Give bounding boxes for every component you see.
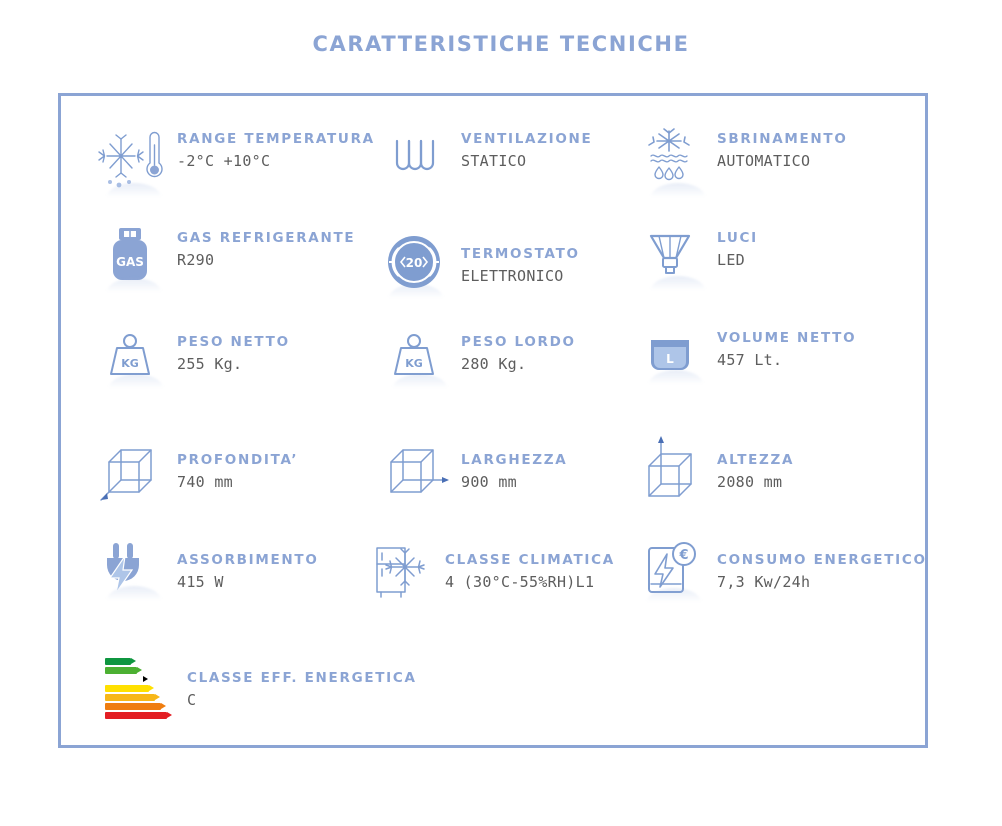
weight-kg-icon: KG bbox=[99, 328, 171, 394]
spec-value: ELETTRONICO bbox=[461, 264, 580, 288]
energy-bar-g bbox=[105, 712, 167, 719]
spec-label: LARGHEZZA bbox=[461, 450, 567, 470]
spec-item-consumo-energetico: € CONSUMO ENERGETICO 7,3 Kw/24h bbox=[639, 540, 927, 606]
spec-value: C bbox=[187, 688, 417, 712]
spec-value: 4 (30°C-55%RH)L1 bbox=[445, 570, 615, 594]
euro-icon-text: € bbox=[678, 548, 688, 563]
spec-item-larghezza: LARGHEZZA 900 mm bbox=[383, 436, 567, 502]
spec-item-peso-lordo: KG PESO LORDO 280 Kg. bbox=[383, 328, 576, 394]
energy-bar-f bbox=[105, 703, 161, 710]
spec-label: ASSORBIMENTO bbox=[177, 550, 319, 570]
page-title: CARATTERISTICHE TECNICHE bbox=[0, 32, 1002, 56]
kg-icon-text: KG bbox=[405, 357, 423, 370]
spec-label: VOLUME NETTO bbox=[717, 328, 856, 348]
spec-item-range-temperatura: RANGE TEMPERATURA -2°C +10°C bbox=[99, 125, 375, 191]
energy-document-euro-icon: € bbox=[639, 540, 711, 606]
spec-label: ALTEZZA bbox=[717, 450, 794, 470]
spec-item-profondita: PROFONDITA’ 740 mm bbox=[99, 436, 298, 502]
spec-label: VENTILAZIONE bbox=[461, 129, 592, 149]
spec-item-classe-eff-energetica: CLASSE EFF. ENERGETICA C bbox=[99, 658, 417, 724]
spec-value: 280 Kg. bbox=[461, 352, 576, 376]
spec-item-volume-netto: L VOLUME NETTO 457 Lt. bbox=[639, 324, 856, 390]
spec-item-termostato: 20 TERMOSTATO ELETTRONICO bbox=[383, 234, 580, 300]
defrost-melting-ice-icon bbox=[639, 125, 711, 191]
energy-bar-e bbox=[105, 694, 155, 701]
spec-value: -2°C +10°C bbox=[177, 149, 375, 173]
energy-bar-b bbox=[105, 667, 137, 674]
led-spotlight-icon bbox=[639, 224, 711, 290]
ventilation-coil-icon bbox=[383, 125, 455, 191]
spec-item-assorbimento: ASSORBIMENTO 415 W bbox=[99, 540, 319, 606]
cube-depth-icon bbox=[99, 436, 171, 502]
spec-label: SBRINAMENTO bbox=[717, 129, 848, 149]
energy-bar-c bbox=[105, 676, 143, 683]
spec-label: CLASSE EFF. ENERGETICA bbox=[187, 668, 417, 688]
spec-label: PESO LORDO bbox=[461, 332, 576, 352]
weight-kg-icon: KG bbox=[383, 328, 455, 394]
spec-label: PESO NETTO bbox=[177, 332, 290, 352]
spec-label: RANGE TEMPERATURA bbox=[177, 129, 375, 149]
spec-item-sbrinamento: SBRINAMENTO AUTOMATICO bbox=[639, 125, 848, 191]
spec-item-gas-refrigerante: GAS GAS REFRIGERANTE R290 bbox=[99, 224, 355, 290]
spec-value: 900 mm bbox=[461, 470, 567, 494]
cube-height-icon bbox=[639, 436, 711, 502]
spec-value: STATICO bbox=[461, 149, 592, 173]
thermostat-dial-icon: 20 bbox=[383, 234, 455, 300]
spec-value: AUTOMATICO bbox=[717, 149, 848, 173]
spec-panel: RANGE TEMPERATURA -2°C +10°C VENTILA bbox=[58, 93, 928, 748]
spec-value: 2080 mm bbox=[717, 470, 794, 494]
snowflake-thermometer-icon bbox=[99, 125, 171, 191]
spec-item-luci: LUCI LED bbox=[639, 224, 758, 290]
spec-label: LUCI bbox=[717, 228, 758, 248]
fridge-snowflake-icon bbox=[367, 540, 439, 606]
energy-rating-label-icon bbox=[99, 658, 173, 724]
spec-item-altezza: ALTEZZA 2080 mm bbox=[639, 436, 794, 502]
tech-spec-sheet: CARATTERISTICHE TECNICHE bbox=[0, 0, 1002, 826]
energy-rating-bars bbox=[99, 658, 161, 720]
gas-icon-text: GAS bbox=[116, 255, 144, 269]
spec-value: 457 Lt. bbox=[717, 348, 856, 372]
spec-value: R290 bbox=[177, 248, 355, 272]
litre-icon-text: L bbox=[666, 352, 674, 366]
spec-value: 255 Kg. bbox=[177, 352, 290, 376]
liquid-container-icon: L bbox=[639, 324, 711, 390]
energy-bar-d bbox=[105, 685, 149, 692]
spec-label: PROFONDITA’ bbox=[177, 450, 298, 470]
spec-value: 7,3 Kw/24h bbox=[717, 570, 927, 594]
cube-width-icon bbox=[383, 436, 455, 502]
spec-grid: RANGE TEMPERATURA -2°C +10°C VENTILA bbox=[61, 96, 925, 745]
spec-label: GAS REFRIGERANTE bbox=[177, 228, 355, 248]
thermostat-number: 20 bbox=[406, 256, 423, 270]
power-plug-bolt-icon bbox=[99, 540, 171, 606]
spec-item-classe-climatica: CLASSE CLIMATICA 4 (30°C-55%RH)L1 bbox=[367, 540, 615, 606]
spec-item-peso-netto: KG PESO NETTO 255 Kg. bbox=[99, 328, 290, 394]
energy-bar-a bbox=[105, 658, 131, 665]
spec-label: CONSUMO ENERGETICO bbox=[717, 550, 927, 570]
spec-item-ventilazione: VENTILAZIONE STATICO bbox=[383, 125, 592, 191]
spec-value: LED bbox=[717, 248, 758, 272]
spec-label: CLASSE CLIMATICA bbox=[445, 550, 615, 570]
gas-cylinder-icon: GAS bbox=[99, 224, 171, 290]
spec-label: TERMOSTATO bbox=[461, 244, 580, 264]
kg-icon-text: KG bbox=[121, 357, 139, 370]
spec-value: 740 mm bbox=[177, 470, 298, 494]
spec-value: 415 W bbox=[177, 570, 319, 594]
